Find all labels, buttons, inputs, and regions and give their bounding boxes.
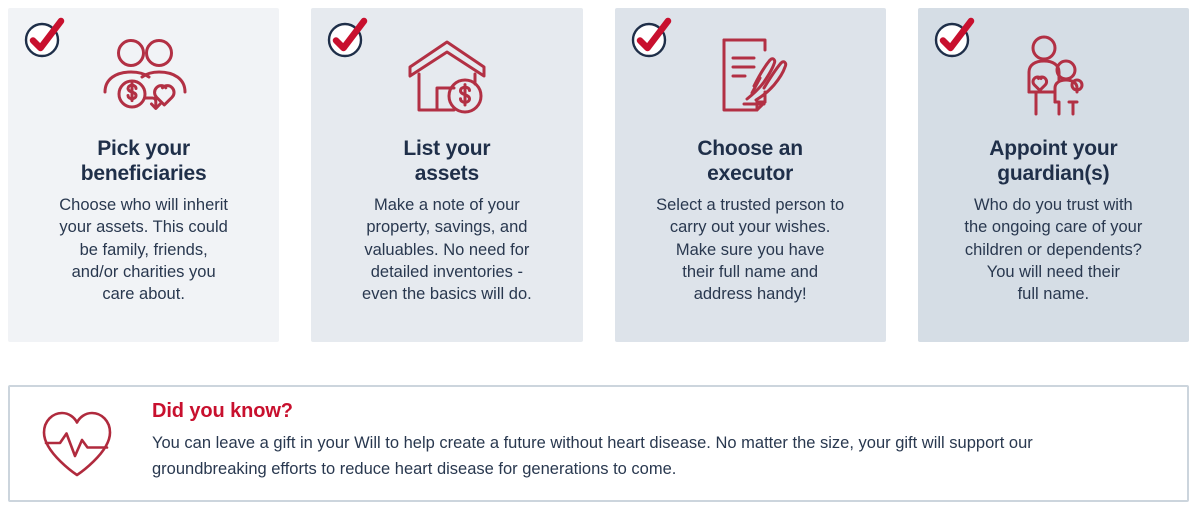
step-card-choose-an-executor: Choose an executor Select a trusted pers… bbox=[615, 8, 886, 342]
two-people-money-heart-icon bbox=[96, 36, 192, 118]
card-body-line: Make sure you have bbox=[625, 239, 876, 261]
card-body: Make a note of your property, savings, a… bbox=[321, 194, 572, 305]
card-title: List your assets bbox=[317, 136, 576, 186]
did-you-know-text-line: groundbreaking efforts to reduce heart d… bbox=[152, 456, 1167, 482]
card-title-line: guardian(s) bbox=[924, 161, 1183, 186]
card-body: Select a trusted person to carry out you… bbox=[625, 194, 876, 305]
card-body-line: and/or charities you bbox=[18, 261, 269, 283]
card-title-line: executor bbox=[621, 161, 880, 186]
card-body-line: detailed inventories - bbox=[321, 261, 572, 283]
card-body-line: carry out your wishes. bbox=[625, 216, 876, 238]
card-body-line: care about. bbox=[18, 283, 269, 305]
card-body-line: children or dependents? bbox=[928, 239, 1179, 261]
card-body-line: full name. bbox=[928, 283, 1179, 305]
card-body-line: valuables. No need for bbox=[321, 239, 572, 261]
card-title: Choose an executor bbox=[621, 136, 880, 186]
did-you-know-title: Did you know? bbox=[152, 398, 293, 424]
card-title-line: beneficiaries bbox=[14, 161, 273, 186]
card-body-line: Who do you trust with bbox=[928, 194, 1179, 216]
did-you-know-text-line: You can leave a gift in your Will to hel… bbox=[152, 430, 1167, 456]
card-body-line: Make a note of your bbox=[321, 194, 572, 216]
card-body-line: their full name and bbox=[625, 261, 876, 283]
adult-and-child-care-icon bbox=[1005, 36, 1101, 118]
card-body-line: You will need their bbox=[928, 261, 1179, 283]
card-body-line: address handy! bbox=[625, 283, 876, 305]
did-you-know-panel: Did you know? You can leave a gift in yo… bbox=[8, 385, 1189, 502]
card-body-line: the ongoing care of your bbox=[928, 216, 1179, 238]
info-cards-page: Pick your beneficiaries Choose who will … bbox=[0, 0, 1197, 529]
check-circle-icon bbox=[20, 14, 68, 62]
card-body-line: be family, friends, bbox=[18, 239, 269, 261]
did-you-know-text: You can leave a gift in your Will to hel… bbox=[152, 430, 1167, 482]
card-title-line: Pick your bbox=[14, 136, 273, 161]
card-body: Choose who will inherit your assets. Thi… bbox=[18, 194, 269, 305]
card-title-line: Choose an bbox=[621, 136, 880, 161]
card-body-line: your assets. This could bbox=[18, 216, 269, 238]
card-body-line: property, savings, and bbox=[321, 216, 572, 238]
card-body-line: Choose who will inherit bbox=[18, 194, 269, 216]
card-title-line: assets bbox=[317, 161, 576, 186]
card-title: Appoint your guardian(s) bbox=[924, 136, 1183, 186]
check-circle-icon bbox=[627, 14, 675, 62]
house-with-dollar-coin-icon bbox=[399, 36, 495, 118]
steps-card-row: Pick your beneficiaries Choose who will … bbox=[8, 8, 1189, 342]
card-title-line: List your bbox=[317, 136, 576, 161]
card-title: Pick your beneficiaries bbox=[14, 136, 273, 186]
step-card-pick-your-beneficiaries: Pick your beneficiaries Choose who will … bbox=[8, 8, 279, 342]
step-card-appoint-your-guardians: Appoint your guardian(s) Who do you trus… bbox=[918, 8, 1189, 342]
card-body-line: even the basics will do. bbox=[321, 283, 572, 305]
card-title-line: Appoint your bbox=[924, 136, 1183, 161]
card-body-line: Select a trusted person to bbox=[625, 194, 876, 216]
check-circle-icon bbox=[323, 14, 371, 62]
card-body: Who do you trust with the ongoing care o… bbox=[928, 194, 1179, 305]
heart-pulse-icon bbox=[40, 409, 114, 479]
step-card-list-your-assets: List your assets Make a note of your pro… bbox=[311, 8, 582, 342]
document-signing-hand-icon bbox=[702, 36, 798, 118]
check-circle-icon bbox=[930, 14, 978, 62]
